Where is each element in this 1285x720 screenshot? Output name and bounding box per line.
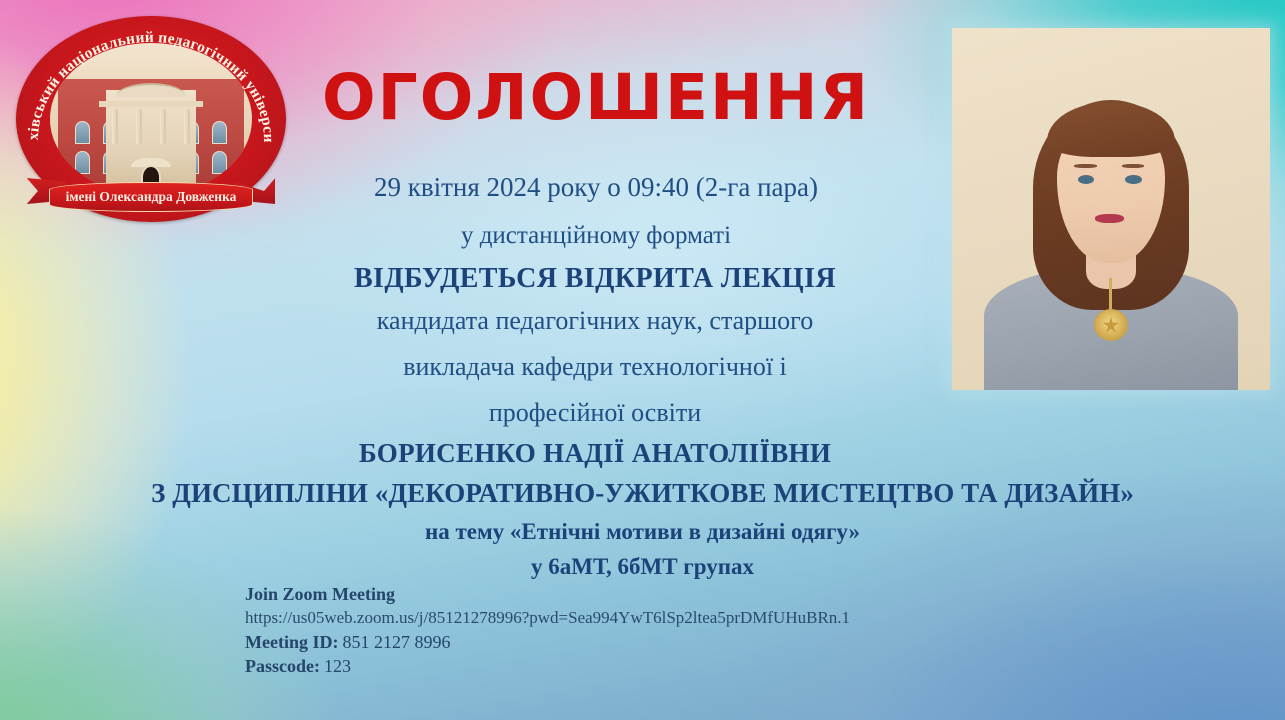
lecturer-name: БОРИСЕНКО НАДІЇ АНАТОЛІЇВНИ	[250, 438, 940, 468]
poster-text-content: ОГОЛОШЕННЯ 29 квітня 2024 року о 09:40 (…	[0, 0, 1285, 720]
course-subject: З ДИСЦИПЛІНИ «ДЕКОРАТИВНО-УЖИТКОВЕ МИСТЕ…	[10, 478, 1275, 508]
announcement-format: у дистанційному форматі	[286, 222, 906, 250]
announcement-datetime: 29 квітня 2024 року о 09:40 (2-га пара)	[286, 172, 906, 202]
lecturer-degree-line-2: викладача кафедри технологічної і	[250, 352, 940, 381]
lecturer-degree-line-1: кандидата педагогічних наук, старшого	[250, 306, 940, 335]
zoom-passcode-value: 123	[324, 656, 351, 676]
page-title: ОГОЛОШЕННЯ	[286, 66, 906, 130]
lecturer-degree-line-3: професійної освіти	[250, 398, 940, 427]
lecture-topic: на тему «Етнічні мотиви в дизайні одягу»	[180, 519, 1105, 545]
zoom-meeting-id-row: Meeting ID: 851 2127 8996	[245, 630, 1075, 655]
announcement-lecture-head: ВІДБУДЕТЬСЯ ВІДКРИТА ЛЕКЦІЯ	[270, 263, 920, 294]
zoom-join-heading: Join Zoom Meeting	[245, 582, 1075, 606]
zoom-meeting-link[interactable]: https://us05web.zoom.us/j/85121278996?pw…	[245, 606, 1075, 629]
zoom-meeting-details: Join Zoom Meeting https://us05web.zoom.u…	[245, 582, 1075, 679]
zoom-meeting-id-label: Meeting ID:	[245, 632, 338, 652]
zoom-passcode-label: Passcode:	[245, 656, 320, 676]
student-groups: у 6аМТ, 6бМТ групах	[180, 554, 1105, 580]
zoom-passcode-row: Passcode: 123	[245, 654, 1075, 679]
announcement-poster: Глухівський національний педагогічний ун…	[0, 0, 1285, 720]
zoom-meeting-id-value: 851 2127 8996	[342, 632, 450, 652]
